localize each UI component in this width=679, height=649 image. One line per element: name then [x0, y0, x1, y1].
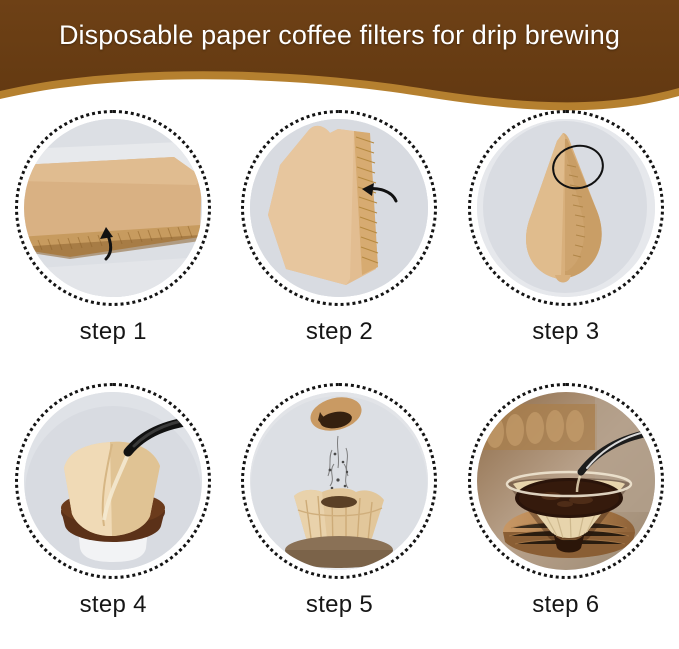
- filter-in-dripper-being-rinsed-illustration: [24, 392, 202, 570]
- step-photo-2: [250, 119, 428, 297]
- adding-coffee-grounds-to-filter-illustration: [250, 392, 428, 570]
- step-cell-6: step 6: [453, 377, 679, 649]
- step-label-3: step 3: [532, 318, 599, 346]
- page-header: Disposable paper coffee filters for drip…: [0, 0, 679, 112]
- step-label-6: step 6: [532, 591, 599, 619]
- header-wave-background: [0, 0, 679, 112]
- step-photo-1: [24, 119, 202, 297]
- step-photo-circle-5: [241, 383, 437, 579]
- step-cell-1: step 1: [0, 104, 226, 377]
- page-title: Disposable paper coffee filters for drip…: [0, 20, 679, 51]
- step-label-2: step 2: [306, 318, 373, 346]
- brewed-coffee-in-glass-dripper-illustration: [477, 392, 655, 570]
- step-photo-4: [24, 392, 202, 570]
- step-photo-circle-1: [15, 110, 211, 306]
- step-label-4: step 4: [80, 591, 147, 619]
- step-photo-3: [477, 119, 655, 297]
- step-label-5: step 5: [306, 591, 373, 619]
- filter-formed-into-cone-illustration: [477, 119, 655, 297]
- step-photo-5: [250, 392, 428, 570]
- step-cell-2: step 2: [226, 104, 452, 377]
- step-photo-circle-4: [15, 383, 211, 579]
- flat-unfolded-paper-filter-illustration: [24, 119, 202, 297]
- step-photo-circle-2: [241, 110, 437, 306]
- filter-with-folded-side-seam-illustration: [250, 119, 428, 297]
- step-cell-5: step 5: [226, 377, 452, 649]
- step-photo-circle-6: [468, 383, 664, 579]
- header-main-wave: [0, 0, 679, 102]
- step-cell-3: step 3: [453, 104, 679, 377]
- step-photo-circle-3: [468, 110, 664, 306]
- step-label-1: step 1: [80, 318, 147, 346]
- step-cell-4: step 4: [0, 377, 226, 649]
- step-photo-6: [477, 392, 655, 570]
- steps-grid: step 1: [0, 104, 679, 649]
